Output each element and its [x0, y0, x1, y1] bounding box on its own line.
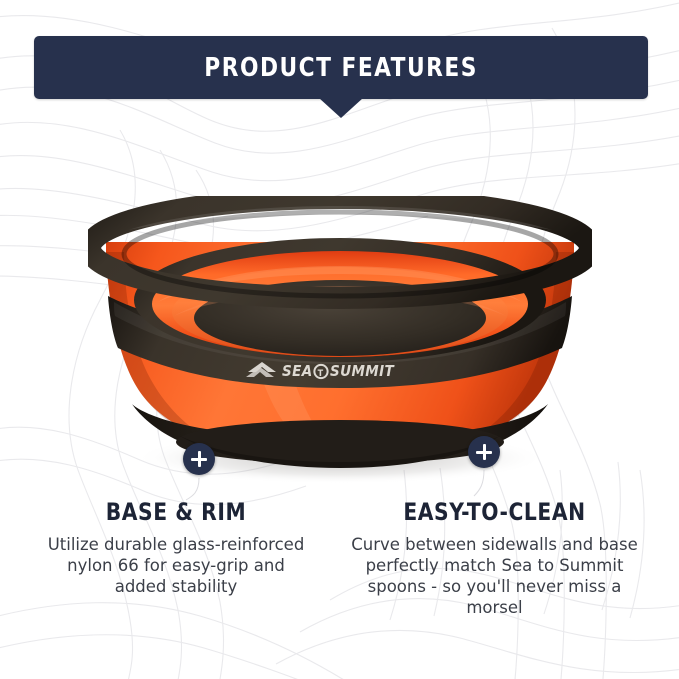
feature-base-rim: BASE & RIM Utilize durable glass-reinfor… [0, 498, 330, 597]
banner-pointer-triangle [319, 98, 363, 118]
infographic-canvas: PRODUCT FEATURES [0, 0, 679, 679]
product-features-banner: PRODUCT FEATURES [34, 36, 648, 99]
marker-easy-clean[interactable] [468, 436, 500, 468]
feature-easy-clean-body: Curve between sidewalls and base perfect… [340, 534, 649, 618]
feature-easy-clean: EASY-TO-CLEAN Curve between sidewalls an… [330, 498, 679, 618]
feature-easy-clean-title: EASY-TO-CLEAN [349, 498, 639, 526]
feature-base-rim-body: Utilize durable glass-reinforced nylon 6… [46, 534, 306, 597]
plus-icon-vertical [483, 444, 486, 460]
plus-icon-vertical [198, 451, 201, 467]
banner-title: PRODUCT FEATURES [204, 53, 478, 83]
feature-list: BASE & RIM Utilize durable glass-reinfor… [0, 498, 679, 618]
marker-base-rim[interactable] [183, 443, 215, 475]
feature-base-rim-title: BASE & RIM [54, 498, 298, 526]
